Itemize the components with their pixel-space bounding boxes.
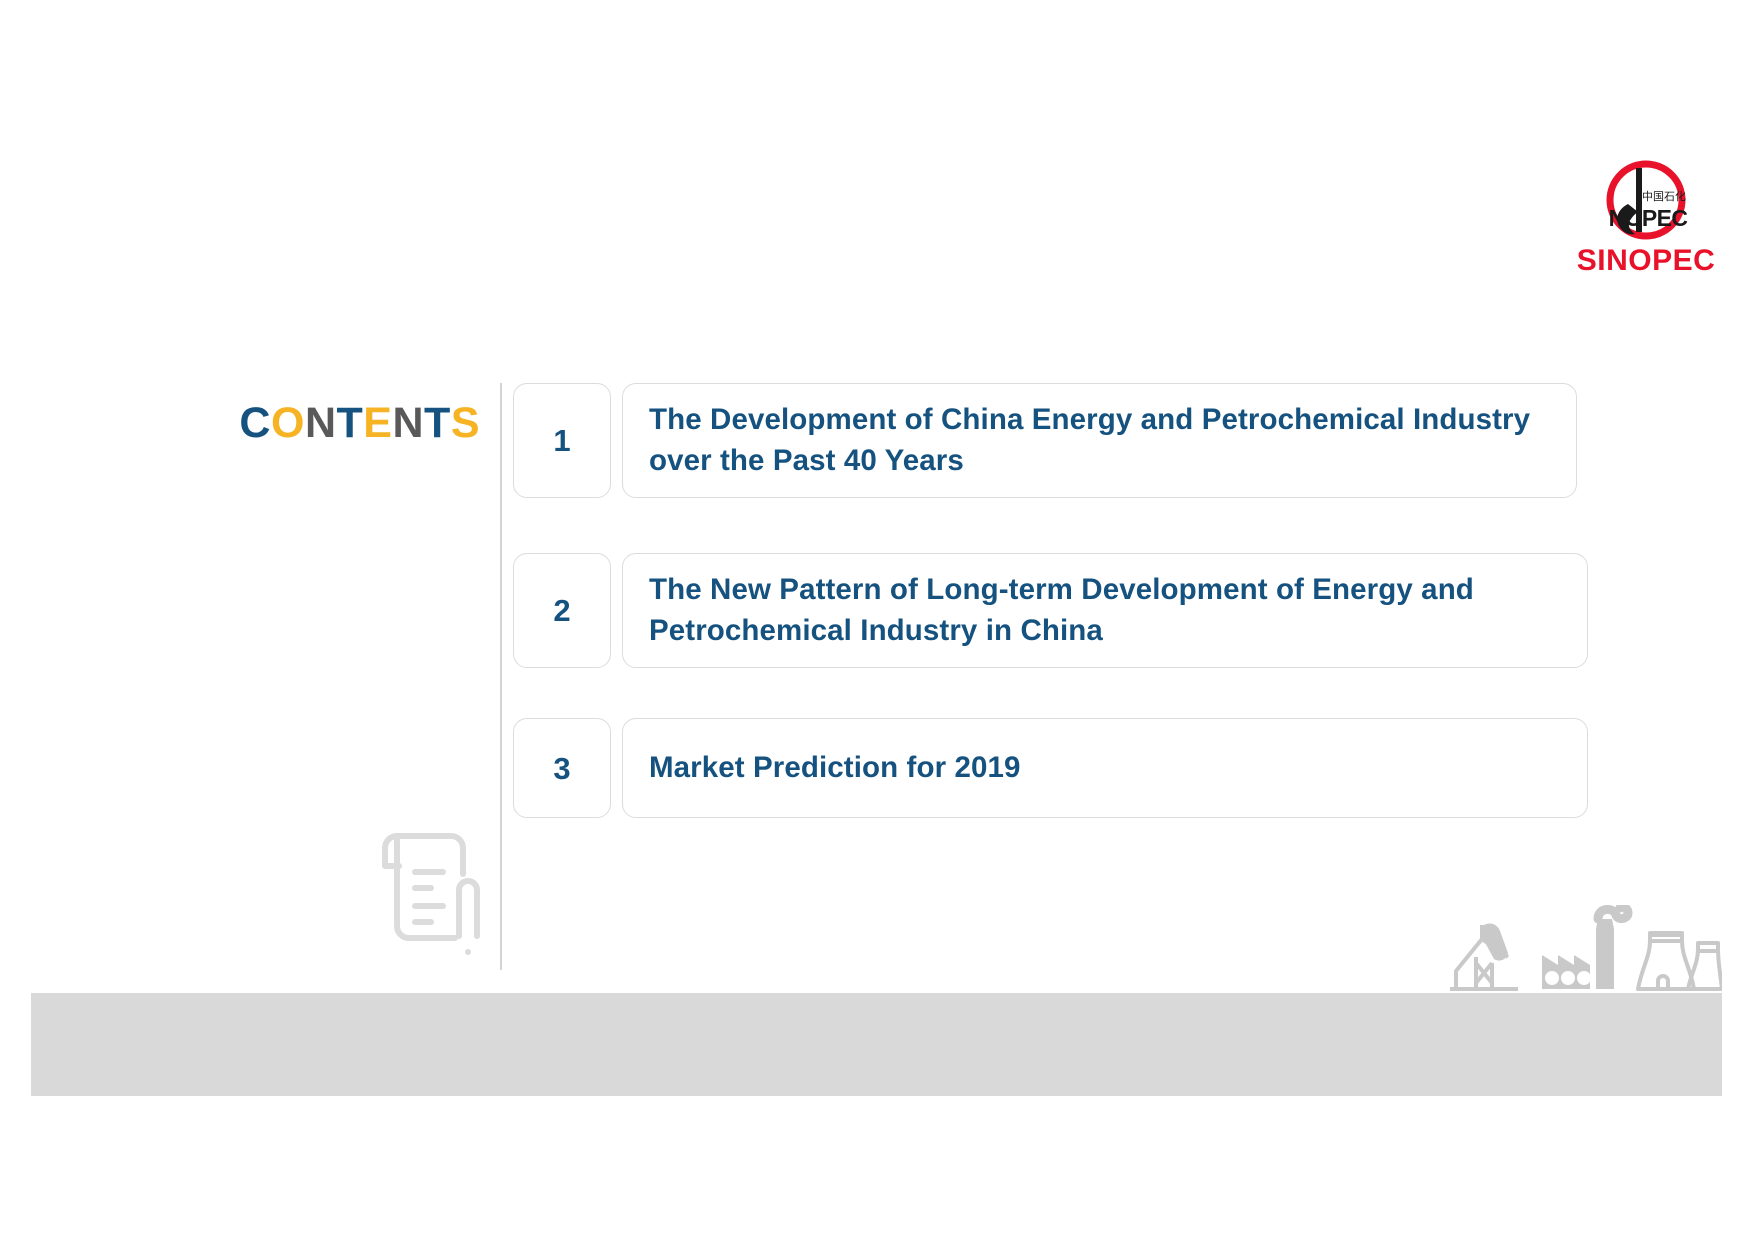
agenda-number-1: 1 xyxy=(553,425,570,456)
pumpjack-head-icon xyxy=(1482,923,1508,960)
agenda-text-box-2[interactable]: The New Pattern of Long-term Development… xyxy=(622,553,1588,668)
title-letter-s: S xyxy=(451,399,480,447)
document-scroll-icon xyxy=(355,818,485,963)
title-letter-t2: T xyxy=(424,399,451,447)
agenda-item-1[interactable]: 1 The Development of China Energy and Pe… xyxy=(513,383,1577,498)
agenda-item-3[interactable]: 3 Market Prediction for 2019 xyxy=(513,718,1588,818)
cooling-tower-icon xyxy=(1638,933,1722,989)
title-letter-n2: N xyxy=(392,399,424,447)
page-title: CONTENTS xyxy=(190,402,480,445)
title-letter-e: E xyxy=(363,399,392,447)
agenda-number-3: 3 xyxy=(553,753,570,784)
svg-text:SINOPEC: SINOPEC xyxy=(1577,244,1716,277)
agenda-text-box-1[interactable]: The Development of China Energy and Petr… xyxy=(622,383,1577,498)
agenda-item-2[interactable]: 2 The New Pattern of Long-term Developme… xyxy=(513,553,1588,668)
agenda-number-2: 2 xyxy=(553,595,570,626)
agenda-number-box-1[interactable]: 1 xyxy=(513,383,611,498)
bottom-gray-band xyxy=(31,993,1722,1096)
agenda-title-1: The Development of China Energy and Petr… xyxy=(649,400,1552,480)
slide-canvas: NOPEC 中国石化 SINOPEC CONTENTS 1 The Develo… xyxy=(0,0,1754,1240)
title-letter-c: C xyxy=(239,399,271,447)
svg-text:NOPEC: NOPEC xyxy=(1609,205,1688,231)
vertical-divider xyxy=(500,383,502,970)
agenda-number-box-3[interactable]: 3 xyxy=(513,718,611,818)
agenda-title-2: The New Pattern of Long-term Development… xyxy=(649,570,1563,650)
agenda-title-3: Market Prediction for 2019 xyxy=(649,748,1020,788)
title-letter-o: O xyxy=(271,399,305,447)
agenda-number-box-2[interactable]: 2 xyxy=(513,553,611,668)
agenda-text-box-3[interactable]: Market Prediction for 2019 xyxy=(622,718,1588,818)
industry-silhouette-group xyxy=(1446,905,1722,995)
title-letter-n1: N xyxy=(305,399,337,447)
svg-text:中国石化: 中国石化 xyxy=(1642,189,1686,203)
sinopec-logo: NOPEC 中国石化 SINOPEC xyxy=(1572,158,1720,278)
factory-icon xyxy=(1542,907,1628,989)
title-letter-t1: T xyxy=(337,399,364,447)
